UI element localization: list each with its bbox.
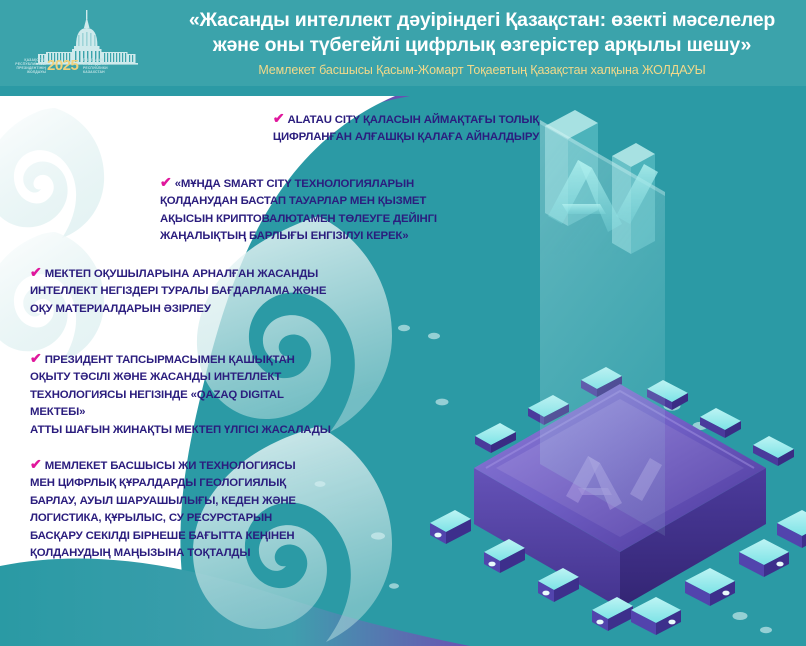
bullet-4-line-3: ТЕХНОЛОГИЯСЫ НЕГІЗІНДЕ «QAZAQ DIGITAL МЕ…: [30, 387, 340, 422]
bullet-5-line-6: ҚОЛДАНУДЫҢ МАҢЫЗЫНА ТОҚТАЛДЫ: [30, 545, 330, 562]
bullet-1-line-2: ЦИФРЛАНҒАН АЛҒАШҚЫ ҚАЛАҒА АЙНАЛДЫРУ: [246, 129, 566, 146]
bullet-3-line-2: ИНТЕЛЛЕКТ НЕГІЗДЕРІ ТУРАЛЫ БАҒДАРЛАМА ЖӘ…: [30, 283, 330, 300]
poster-header: ҚАЗАҚСТАН РЕСПУБЛИКАСЫ ПРЕЗИДЕНТІНІҢ ЖОЛ…: [0, 0, 806, 86]
bullet-item-5: ✔МЕМЛЕКЕТ БАСШЫСЫ ЖИ ТЕХНОЛОГИЯСЫ МЕН ЦИ…: [30, 456, 330, 562]
check-icon-2: ✔: [160, 174, 172, 190]
bullet-item-4: ✔ПРЕЗИДЕНТ ТАПСЫРМАСЫМЕН ҚАШЫҚТАН ОҚЫТУ …: [30, 350, 340, 439]
bullet-1-line-1: ALATAU CITY ҚАЛАСЫН АЙМАҚТАҒЫ ТОЛЫҚ: [288, 114, 540, 126]
header-text-group: «Жасанды интеллект дәуіріндегі Қазақстан…: [168, 8, 806, 78]
emblem-year: 2025: [47, 57, 78, 74]
bullet-2-line-4: ЖАҢАЛЫҚТЫҢ БАРЛЫҒЫ ЕНГІЗІЛУІ КЕРЕК»: [160, 228, 450, 245]
bullet-item-3: ✔МЕКТЕП ОҚУШЫЛАРЫНА АРНАЛҒАН ЖАСАНДЫ ИНТ…: [30, 264, 330, 318]
infographic-poster: ҚАЗАҚСТАН РЕСПУБЛИКАСЫ ПРЕЗИДЕНТІНІҢ ЖОЛ…: [0, 0, 806, 646]
bullet-2-line-3: АҚЫСЫН КРИПТОВАЛЮТАМЕН ТӨЛЕУГЕ ДЕЙІНГІ: [160, 211, 450, 228]
bullet-4-line-1: ПРЕЗИДЕНТ ТАПСЫРМАСЫМЕН ҚАШЫҚТАН: [45, 354, 295, 366]
bullet-5-line-5: БАСҚАРУ СЕКІЛДІ БІРНЕШЕ БАҒЫТТА КЕҢІНЕН: [30, 528, 330, 545]
check-icon-5: ✔: [30, 456, 42, 472]
bullet-3-line-1: МЕКТЕП ОҚУШЫЛАРЫНА АРНАЛҒАН ЖАСАНДЫ: [45, 268, 318, 280]
bullet-5-line-1: МЕМЛЕКЕТ БАСШЫСЫ ЖИ ТЕХНОЛОГИЯСЫ: [45, 460, 296, 472]
poster-title: «Жасанды интеллект дәуіріндегі Қазақстан…: [168, 8, 796, 58]
check-icon-1: ✔: [273, 110, 285, 126]
bullet-5-line-4: ЛОГИСТИКА, ҚҰРЫЛЫС, СУ РЕСУРСТАРЫН: [30, 510, 330, 527]
poster-subtitle: Мемлекет басшысы Қасым-Жомарт Тоқаевтың …: [168, 63, 796, 78]
presidential-address-emblem: ҚАЗАҚСТАН РЕСПУБЛИКАСЫ ПРЕЗИДЕНТІНІҢ ЖОЛ…: [0, 0, 168, 86]
bullet-3-line-3: ОҚУ МАТЕРИАЛДАРЫН ӘЗІРЛЕУ: [30, 301, 330, 318]
poster-body: ✔ALATAU CITY ҚАЛАСЫН АЙМАҚТАҒЫ ТОЛЫҚ ЦИФ…: [0, 96, 806, 646]
emblem-right-text: ПОСЛАНИЕ ПРЕЗИДЕНТА РЕСПУБЛИКИ КАЗАХСТАН: [83, 58, 123, 74]
bullet-item-1: ✔ALATAU CITY ҚАЛАСЫН АЙМАҚТАҒЫ ТОЛЫҚ ЦИФ…: [246, 110, 566, 147]
bullet-2-line-2: ҚОЛДАНУДАН БАСТАП ТАУАРЛАР МЕН ҚЫЗМЕТ: [160, 193, 450, 210]
bullet-5-line-2: МЕН ЦИФРЛЫҚ ҚҰРАЛДАРДЫ ГЕОЛОГИЯЛЫҚ: [30, 475, 330, 492]
check-icon-3: ✔: [30, 264, 42, 280]
hologram-beam: [540, 120, 665, 536]
emblem-left-text: ҚАЗАҚСТАН РЕСПУБЛИКАСЫ ПРЕЗИДЕНТІНІҢ ЖОЛ…: [2, 58, 46, 74]
bullet-item-2: ✔«МҰНДА SMART CITY ТЕХНОЛОГИЯЛАРЫН ҚОЛДА…: [160, 174, 450, 246]
bullet-4-line-2: ОҚЫТУ ТӘСІЛІ ЖӘНЕ ЖАСАНДЫ ИНТЕЛЛЕКТ: [30, 369, 340, 386]
check-icon-4: ✔: [30, 350, 42, 366]
header-divider-strip: [0, 86, 806, 96]
bullet-5-line-3: БАРЛАУ, АУЫЛ ШАРУАШЫЛЫҒЫ, КЕДЕН ЖӘНЕ: [30, 493, 330, 510]
bullet-2-line-1: «МҰНДА SMART CITY ТЕХНОЛОГИЯЛАРЫН: [175, 178, 414, 190]
bullet-4-line-4: АТТЫ ШАҒЫН ЖИНАҚТЫ МЕКТЕП ҮЛГІСІ ЖАСАЛАД…: [30, 422, 340, 439]
